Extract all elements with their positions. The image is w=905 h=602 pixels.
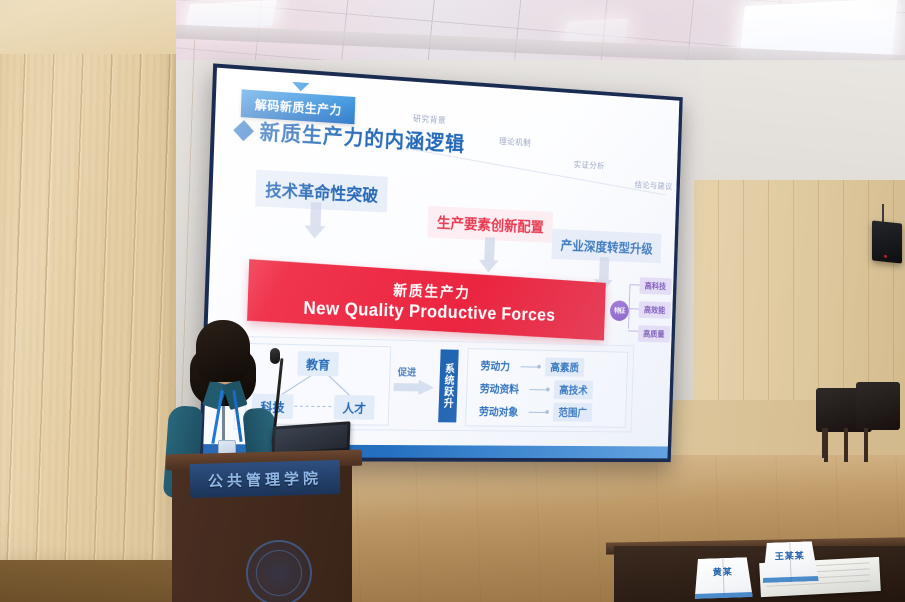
chair [856,382,900,430]
banner-title-en: New Quality Productive Forces [303,298,556,326]
nav-tab-0: 研究背景 [413,113,447,127]
triangle-marker-icon [292,82,309,92]
factor-pair-row: 劳动资料 高技术 [474,379,593,400]
right-arrow-icon [393,379,434,395]
factor-left: 劳动力 [475,356,516,376]
factor-left: 劳动资料 [474,379,524,399]
left-wood-wall-top [0,0,176,54]
leap-label: 系统跃升 [438,349,459,422]
lecture-hall-photo: 解码新质生产力 新质生产力的内涵逻辑 研究背景 理论机制 实证分析 结论与建议 … [0,0,905,602]
pair-connector [529,411,548,412]
connector-line [628,330,638,331]
feature-badge-0: 高科技 [639,277,671,295]
nav-tab-1: 理论机制 [499,135,532,148]
factor-right: 高技术 [554,380,593,399]
left-wood-wall [0,0,176,560]
ceiling-light-panel [564,18,628,41]
nav-divider-line [406,148,666,196]
factor-pair-row: 劳动力 高素质 [475,356,584,377]
down-arrow-icon [479,237,500,273]
wall-speaker [872,220,902,263]
podium-label: 公共管理学院 [208,467,323,491]
feature-circle-label: 特征 [610,300,629,321]
promote-label: 促进 [398,364,417,379]
triangle-node-top: 教育 [297,351,339,376]
speaker-led-icon [884,255,887,258]
factor-left: 劳动对象 [473,402,523,422]
factor-right: 高素质 [545,357,585,377]
name-tent-card: 王某某 [761,541,818,583]
connector-line [629,308,639,309]
podium-nameplate: 公共管理学院 [190,460,341,498]
nav-tab-3: 结论与建议 [634,179,672,192]
down-arrow-icon [304,202,326,239]
triangle-node-right: 人才 [334,395,375,420]
diamond-bullet-icon [233,120,254,141]
bottom-diagram-panel: 教育 科技 人才 促进 系统跃升 劳动力 高素质 劳动资料 [233,336,634,433]
university-emblem-icon [246,540,312,602]
name-tent-text: 黄某 [694,564,752,579]
feature-badge-1: 高效能 [639,301,671,319]
feature-badge-2: 高质量 [638,325,670,342]
pair-connector [529,389,548,390]
feature-badge-group: 特征 高科技 高效能 高质量 [609,272,674,353]
connector-line [630,284,640,285]
chair-legs [824,428,882,462]
pair-connector [521,366,540,367]
nav-tab-2: 实证分析 [574,159,606,172]
connector-line [628,284,630,328]
factor-right: 范围广 [553,403,593,422]
factor-pair-row: 劳动对象 范围广 [473,402,592,422]
slide-nav-tabs: 研究背景 理论机制 实证分析 结论与建议 [403,108,668,197]
banner-title-cn: 新质生产力 [393,279,471,302]
name-tent-card: 黄某 [693,557,752,599]
factor-pairs-group: 劳动力 高素质 劳动资料 高技术 劳动对象 范围广 [465,348,628,428]
name-tent-text: 王某某 [762,548,818,563]
microphone-head [270,348,280,364]
main-concept-banner: 新质生产力 New Quality Productive Forces [247,259,606,340]
wood-grooves [0,0,176,560]
hair-front [196,320,250,382]
